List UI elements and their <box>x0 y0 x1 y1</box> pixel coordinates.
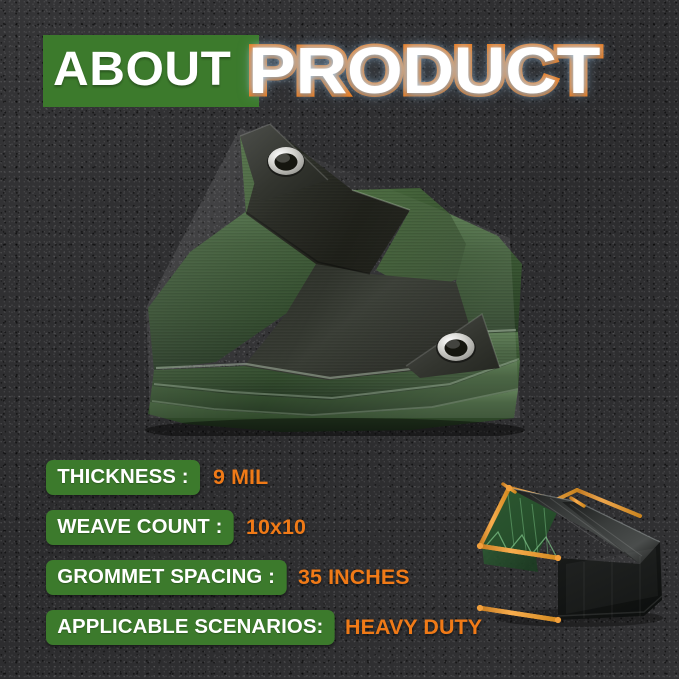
title-product-text: PRODUCT <box>248 30 600 110</box>
shelter-illustration <box>474 468 674 633</box>
spec-value-grommet-spacing: 35 INCHES <box>298 567 410 588</box>
spec-label-applicable-scenarios: APPLICABLE SCENARIOS: <box>46 610 335 645</box>
product-photo <box>120 118 570 436</box>
spec-value-thickness: 9 MIL <box>213 467 268 488</box>
spec-label-grommet-spacing: GROMMET SPACING : <box>46 560 286 595</box>
spec-value-applicable-scenarios: HEAVY DUTY <box>345 617 482 638</box>
spec-label-weave-count: WEAVE COUNT : <box>46 510 234 545</box>
tarp-illustration <box>120 118 570 436</box>
spec-label-thickness: THICKNESS : <box>46 460 200 495</box>
title-about-text: ABOUT <box>53 46 231 94</box>
page-title: ABOUT PRODUCT <box>0 28 679 114</box>
tarp-shelter-icon <box>474 468 674 633</box>
spec-value-weave-count: 10x10 <box>246 517 306 538</box>
infographic-canvas: ABOUT PRODUCT <box>0 0 679 679</box>
